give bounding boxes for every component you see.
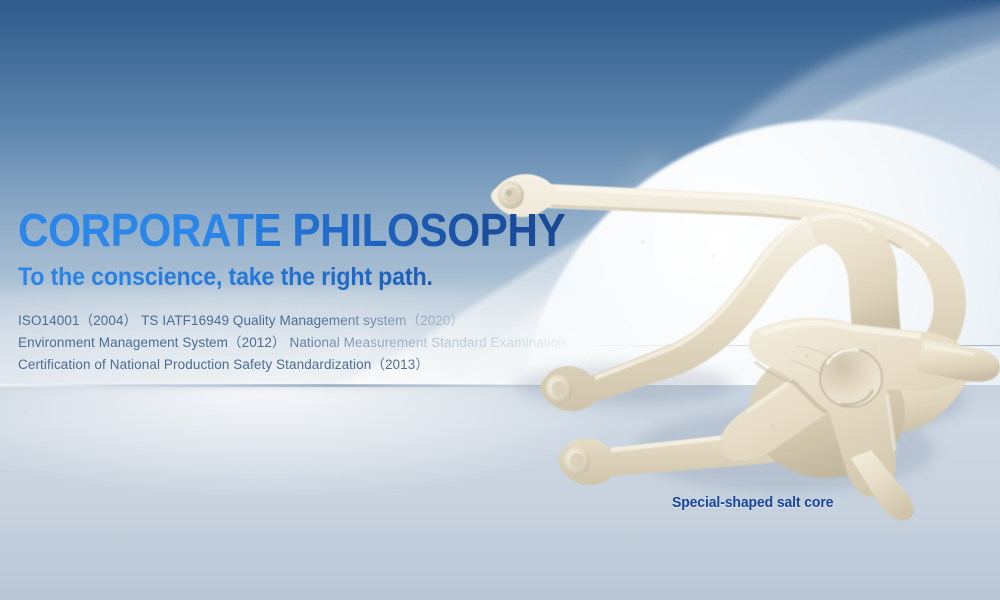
- product-caption: Special-shaped salt core: [672, 494, 833, 511]
- banner-copy: CORPORATE PHILOSOPHY To the conscience, …: [18, 206, 638, 376]
- certification-line: ISO14001（2004） TS IATF16949 Quality Mana…: [18, 310, 638, 332]
- certification-line: Certification of National Production Saf…: [18, 354, 638, 376]
- banner-subtitle: To the conscience, take the right path.: [18, 263, 595, 292]
- certification-line: Environment Management System（2012） Nati…: [18, 332, 638, 354]
- certification-list: ISO14001（2004） TS IATF16949 Quality Mana…: [18, 310, 638, 376]
- page-title: CORPORATE PHILOSOPHY: [18, 206, 588, 255]
- corporate-philosophy-banner: CORPORATE PHILOSOPHY To the conscience, …: [0, 0, 1000, 600]
